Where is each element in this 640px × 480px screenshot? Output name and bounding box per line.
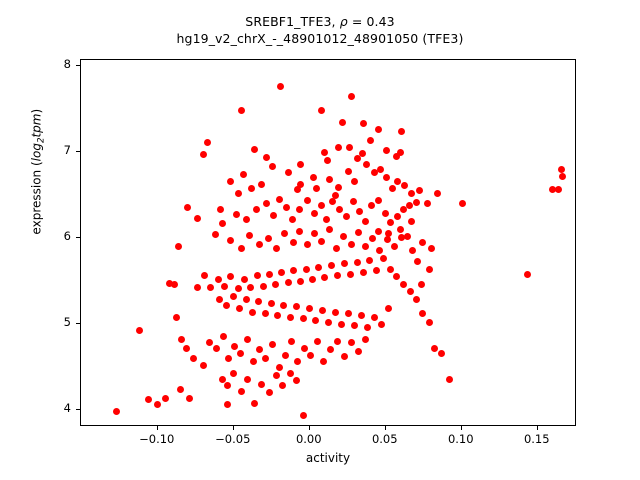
data-point: [378, 321, 385, 328]
data-point: [240, 171, 247, 178]
data-point: [227, 178, 234, 185]
data-point: [336, 206, 343, 213]
x-axis-label: activity: [80, 451, 576, 465]
data-point: [355, 229, 362, 236]
data-point: [326, 226, 333, 233]
data-point: [362, 336, 369, 343]
data-point: [250, 358, 257, 365]
data-point: [358, 312, 365, 319]
plot-axes: [80, 59, 576, 426]
data-point: [335, 184, 342, 191]
data-point: [409, 247, 416, 254]
data-point: [220, 333, 227, 340]
data-point: [351, 322, 358, 329]
data-point: [273, 372, 280, 379]
data-point: [393, 273, 400, 280]
data-point: [398, 128, 405, 135]
data-point: [300, 412, 307, 419]
data-point: [244, 376, 251, 383]
data-point: [287, 314, 294, 321]
data-point: [332, 309, 339, 316]
data-point: [366, 257, 373, 264]
data-point: [397, 149, 404, 156]
data-point: [438, 350, 445, 357]
data-point: [394, 213, 401, 220]
y-axis-label-log: log: [29, 143, 43, 161]
data-point: [309, 276, 316, 283]
data-point: [290, 239, 297, 246]
data-point: [276, 364, 283, 371]
data-point: [351, 178, 358, 185]
data-point: [251, 146, 258, 153]
data-point: [223, 302, 230, 309]
data-point: [348, 241, 355, 248]
data-point: [341, 353, 348, 360]
data-point: [418, 281, 425, 288]
data-point: [334, 272, 341, 279]
y-tick-label: 5: [26, 315, 71, 329]
data-point: [238, 107, 245, 114]
data-point: [224, 382, 231, 389]
y-tick-mark: [76, 237, 80, 238]
data-point: [368, 202, 375, 209]
data-point: [332, 192, 339, 199]
y-axis-label-base: 2: [37, 138, 47, 144]
data-point: [237, 350, 244, 357]
data-point: [265, 235, 272, 242]
y-tick-mark: [76, 323, 80, 324]
rho-value: = 0.43: [348, 14, 395, 29]
data-point: [401, 182, 408, 189]
data-point: [227, 273, 234, 280]
data-point: [389, 185, 396, 192]
data-point: [360, 120, 367, 127]
data-point: [280, 302, 287, 309]
data-point: [375, 126, 382, 133]
data-point: [235, 190, 242, 197]
y-tick-mark: [76, 65, 80, 66]
data-point: [145, 396, 152, 403]
data-point: [269, 341, 276, 348]
data-point: [385, 305, 392, 312]
x-tick-mark: [157, 426, 158, 430]
data-point: [426, 319, 433, 326]
data-point: [398, 234, 405, 241]
chart-title: SREBF1_TFE3, ρ = 0.43 hg19_v2_chrX_-_489…: [0, 13, 640, 47]
data-point: [380, 255, 387, 262]
data-point: [419, 239, 426, 246]
data-point: [296, 228, 303, 235]
data-point: [293, 377, 300, 384]
data-point: [350, 198, 357, 205]
data-point: [294, 358, 301, 365]
data-point: [428, 245, 435, 252]
data-point: [345, 168, 352, 175]
data-point: [277, 83, 284, 90]
data-point: [279, 382, 286, 389]
data-point: [524, 271, 531, 278]
data-point: [419, 310, 426, 317]
chart-title-line-2: hg19_v2_chrX_-_48901012_48901050 (TFE3): [0, 30, 640, 47]
data-point: [408, 190, 415, 197]
data-point: [321, 149, 328, 156]
data-point: [304, 197, 311, 204]
data-point: [283, 204, 290, 211]
data-point: [362, 218, 369, 225]
data-point: [201, 272, 208, 279]
data-point: [446, 376, 453, 383]
data-point: [272, 281, 279, 288]
data-point: [408, 218, 415, 225]
data-point: [186, 395, 193, 402]
data-point: [175, 243, 182, 250]
data-point: [387, 219, 394, 226]
data-point: [346, 144, 353, 151]
data-point: [340, 233, 347, 240]
data-point: [325, 319, 332, 326]
data-point: [431, 345, 438, 352]
data-point: [260, 283, 267, 290]
data-point: [194, 215, 201, 222]
data-point: [347, 271, 354, 278]
y-tick-label: 4: [26, 401, 71, 415]
data-point: [236, 305, 243, 312]
data-point: [406, 202, 413, 209]
data-point: [311, 210, 318, 217]
data-point: [194, 284, 201, 291]
y-axis-label: expression (log2tpm): [29, 72, 46, 272]
data-point: [383, 147, 390, 154]
data-point: [384, 236, 391, 243]
data-point: [249, 309, 256, 316]
data-point: [364, 324, 371, 331]
data-point: [253, 206, 260, 213]
data-point: [413, 296, 420, 303]
data-point: [311, 230, 318, 237]
data-point: [426, 266, 433, 273]
x-tick-mark: [537, 426, 538, 430]
data-point: [300, 315, 307, 322]
data-point: [367, 137, 374, 144]
data-point: [354, 259, 361, 266]
data-point: [262, 355, 269, 362]
x-tick-mark: [233, 426, 234, 430]
data-point: [246, 232, 253, 239]
y-tick-label: 8: [26, 57, 71, 71]
data-point: [383, 174, 390, 181]
data-point: [256, 346, 263, 353]
y-axis-label-prefix: expression (: [29, 161, 43, 234]
data-point: [243, 296, 250, 303]
data-point: [323, 216, 330, 223]
data-point: [258, 181, 265, 188]
data-point: [313, 185, 320, 192]
data-point: [154, 401, 161, 408]
scatter-points-layer: [81, 60, 575, 425]
data-point: [254, 272, 261, 279]
data-point: [287, 370, 294, 377]
data-point: [359, 150, 366, 157]
data-point: [290, 267, 297, 274]
data-point: [324, 157, 331, 164]
data-point: [387, 266, 394, 273]
data-point: [434, 190, 441, 197]
x-tick-label: 0.10: [426, 432, 496, 446]
data-point: [206, 339, 213, 346]
data-point: [369, 235, 376, 242]
data-point: [391, 243, 398, 250]
data-point: [244, 336, 251, 343]
data-point: [190, 355, 197, 362]
data-point: [559, 173, 566, 180]
data-point: [413, 199, 420, 206]
data-point: [360, 269, 367, 276]
data-point: [355, 348, 362, 355]
data-point: [304, 241, 311, 248]
scatter-plot-figure: SREBF1_TFE3, ρ = 0.43 hg19_v2_chrX_-_489…: [0, 0, 640, 480]
data-point: [235, 285, 242, 292]
y-tick-mark: [76, 151, 80, 152]
data-point: [459, 200, 466, 207]
data-point: [113, 408, 120, 415]
data-point: [227, 237, 234, 244]
data-point: [343, 213, 350, 220]
data-point: [424, 200, 431, 207]
data-point: [348, 339, 355, 346]
data-point: [297, 278, 304, 285]
y-tick-mark: [76, 409, 80, 410]
data-point: [307, 352, 314, 359]
data-point: [225, 355, 232, 362]
chart-title-gene: SREBF1_TFE3,: [245, 14, 339, 29]
x-tick-label: 0.00: [274, 432, 344, 446]
data-point: [335, 144, 342, 151]
data-point: [255, 298, 262, 305]
data-point: [162, 395, 169, 402]
data-point: [356, 208, 363, 215]
data-point: [204, 139, 211, 146]
x-tick-label: −0.10: [122, 432, 192, 446]
data-point: [333, 245, 340, 252]
data-point: [200, 151, 207, 158]
data-point: [224, 401, 231, 408]
data-point: [221, 283, 228, 290]
data-point: [319, 307, 326, 314]
data-point: [318, 202, 325, 209]
data-point: [217, 206, 224, 213]
data-point: [407, 288, 414, 295]
data-point: [362, 243, 369, 250]
data-point: [273, 245, 280, 252]
data-point: [247, 284, 254, 291]
data-point: [215, 276, 222, 283]
data-point: [238, 388, 245, 395]
data-point: [278, 269, 285, 276]
data-point: [382, 210, 389, 217]
data-point: [341, 260, 348, 267]
data-point: [363, 161, 370, 168]
data-point: [375, 197, 382, 204]
x-tick-label: 0.05: [350, 432, 420, 446]
data-point: [318, 238, 325, 245]
data-point: [212, 231, 219, 238]
x-tick-label: −0.05: [198, 432, 268, 446]
data-point: [329, 198, 336, 205]
rho-symbol: ρ: [340, 14, 348, 29]
data-point: [320, 358, 327, 365]
data-point: [178, 336, 185, 343]
data-point: [248, 185, 255, 192]
data-point: [294, 186, 301, 193]
data-point: [233, 211, 240, 218]
data-point: [310, 174, 317, 181]
data-point: [339, 119, 346, 126]
data-point: [328, 262, 335, 269]
data-point: [293, 303, 300, 310]
data-point: [282, 352, 289, 359]
data-point: [285, 279, 292, 286]
data-point: [256, 241, 263, 248]
data-point: [263, 200, 270, 207]
data-point: [296, 206, 303, 213]
data-point: [263, 154, 270, 161]
data-point: [297, 161, 304, 168]
data-point: [288, 338, 295, 345]
data-point: [268, 300, 275, 307]
data-point: [216, 296, 223, 303]
data-point: [171, 281, 178, 288]
data-point: [219, 220, 226, 227]
data-point: [558, 166, 565, 173]
data-point: [555, 186, 562, 193]
data-point: [376, 247, 383, 254]
data-point: [373, 267, 380, 274]
data-point: [416, 187, 423, 194]
data-point: [303, 266, 310, 273]
data-point: [312, 317, 319, 324]
data-point: [238, 245, 245, 252]
data-point: [394, 178, 401, 185]
data-point: [269, 163, 276, 170]
data-point: [200, 362, 207, 369]
data-point: [184, 204, 191, 211]
data-point: [315, 264, 322, 271]
data-point: [301, 345, 308, 352]
data-point: [314, 338, 321, 345]
data-point: [306, 305, 313, 312]
data-point: [274, 312, 281, 319]
x-tick-mark: [461, 426, 462, 430]
data-point: [266, 389, 273, 396]
x-tick-mark: [385, 426, 386, 430]
data-point: [219, 376, 226, 383]
chart-title-line-1: SREBF1_TFE3, ρ = 0.43: [0, 13, 640, 30]
data-point: [371, 314, 378, 321]
data-point: [375, 228, 382, 235]
data-point: [266, 271, 273, 278]
data-point: [270, 212, 277, 219]
data-point: [318, 107, 325, 114]
data-point: [327, 346, 334, 353]
data-point: [397, 226, 404, 233]
data-point: [338, 321, 345, 328]
data-point: [414, 258, 421, 265]
data-point: [377, 166, 384, 173]
x-tick-label: 0.15: [502, 432, 572, 446]
y-axis-label-suffix: ): [29, 109, 43, 114]
data-point: [262, 310, 269, 317]
data-point: [281, 230, 288, 237]
data-point: [251, 400, 258, 407]
x-tick-mark: [309, 426, 310, 430]
data-point: [348, 93, 355, 100]
data-point: [334, 338, 341, 345]
data-point: [173, 314, 180, 321]
data-point: [258, 381, 265, 388]
data-point: [183, 345, 190, 352]
data-point: [285, 169, 292, 176]
data-point: [213, 345, 220, 352]
data-point: [345, 310, 352, 317]
data-point: [207, 284, 214, 291]
data-point: [276, 196, 283, 203]
y-axis-label-tpm: tpm: [29, 114, 43, 138]
data-point: [243, 216, 250, 223]
data-point: [289, 216, 296, 223]
data-point: [241, 276, 248, 283]
data-point: [136, 327, 143, 334]
data-point: [400, 281, 407, 288]
data-point: [177, 386, 184, 393]
data-point: [231, 343, 238, 350]
data-point: [230, 293, 237, 300]
data-point: [321, 274, 328, 281]
data-point: [326, 176, 333, 183]
data-point: [230, 370, 237, 377]
